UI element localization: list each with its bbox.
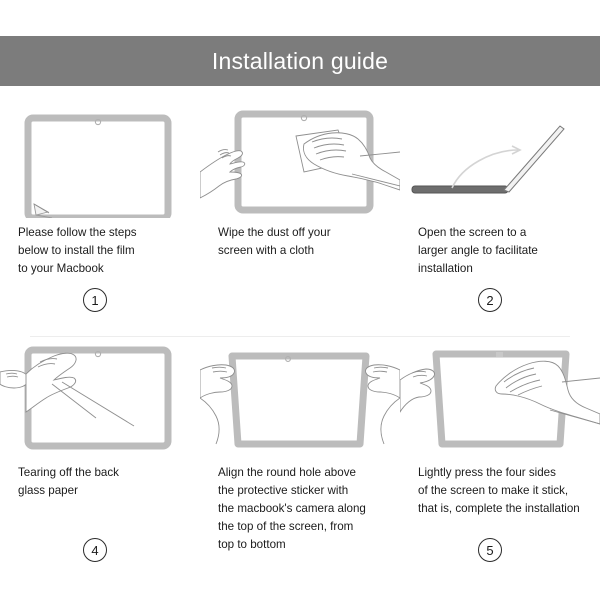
step-panel-4: Tearing off the back glass paper 4 bbox=[0, 336, 200, 576]
step-number-4: 4 bbox=[83, 538, 107, 562]
step-6-caption: Lightly press the four sides of the scre… bbox=[418, 464, 598, 518]
caption-line: Tearing off the back bbox=[18, 464, 198, 482]
caption-line: the top of the screen, from bbox=[218, 518, 398, 536]
step-1-caption: Please follow the steps below to install… bbox=[18, 224, 198, 278]
caption-line: to your Macbook bbox=[18, 260, 198, 278]
step-panel-3: Open the screen to a larger angle to fac… bbox=[400, 96, 600, 336]
caption-line: the protective sticker with bbox=[218, 482, 398, 500]
step-6-illustration bbox=[400, 340, 600, 458]
step-panel-6: Lightly press the four sides of the scre… bbox=[400, 336, 600, 576]
caption-line: Open the screen to a bbox=[418, 224, 598, 242]
step-3-illustration bbox=[400, 100, 600, 218]
caption-line: Lightly press the four sides bbox=[418, 464, 598, 482]
step-panel-2: Wipe the dust off your screen with a clo… bbox=[200, 96, 400, 336]
step-panel-5: Align the round hole above the protectiv… bbox=[200, 336, 400, 576]
caption-line: Wipe the dust off your bbox=[218, 224, 398, 242]
step-3-caption: Open the screen to a larger angle to fac… bbox=[418, 224, 598, 278]
caption-line: top to bottom bbox=[218, 536, 398, 554]
caption-line: screen with a cloth bbox=[218, 242, 398, 260]
header-bar: Installation guide bbox=[0, 36, 600, 86]
caption-line: glass paper bbox=[18, 482, 198, 500]
step-4-illustration bbox=[0, 340, 200, 458]
caption-line: Align the round hole above bbox=[218, 464, 398, 482]
step-panel-1: Please follow the steps below to install… bbox=[0, 96, 200, 336]
steps-grid: Please follow the steps below to install… bbox=[0, 96, 600, 586]
caption-line: Please follow the steps bbox=[18, 224, 198, 242]
steps-row-2: Tearing off the back glass paper 4 bbox=[0, 336, 600, 576]
caption-line: installation bbox=[418, 260, 598, 278]
caption-line: below to install the film bbox=[18, 242, 198, 260]
step-2-illustration bbox=[200, 100, 400, 218]
page-title: Installation guide bbox=[212, 48, 388, 75]
step-5-caption: Align the round hole above the protectiv… bbox=[218, 464, 398, 554]
step-number-1: 1 bbox=[83, 288, 107, 312]
caption-line: that is, complete the installation bbox=[418, 500, 598, 518]
step-5-illustration bbox=[200, 340, 400, 458]
caption-line: the macbook's camera along bbox=[218, 500, 398, 518]
caption-line: larger angle to facilitate bbox=[418, 242, 598, 260]
step-1-illustration bbox=[0, 100, 200, 218]
step-4-caption: Tearing off the back glass paper bbox=[18, 464, 198, 500]
steps-row-1: Please follow the steps below to install… bbox=[0, 96, 600, 336]
caption-line: of the screen to make it stick, bbox=[418, 482, 598, 500]
step-2-caption: Wipe the dust off your screen with a clo… bbox=[218, 224, 398, 260]
